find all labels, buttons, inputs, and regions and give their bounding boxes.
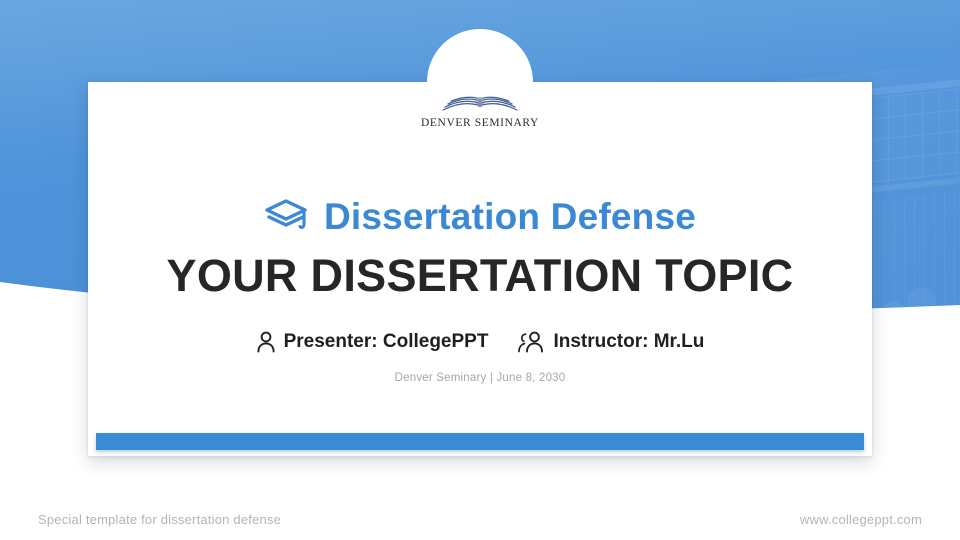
people-row: Presenter: CollegePPT Instructor: Mr.Lu xyxy=(88,331,872,353)
instructor-label: Instructor: Mr.Lu xyxy=(553,331,704,353)
seminary-logo: DENVER SEMINARY xyxy=(88,94,872,129)
graduation-cap-icon xyxy=(264,197,310,235)
page-title: YOUR DISSERTATION TOPIC xyxy=(88,252,872,299)
people-icon xyxy=(518,331,545,353)
footer-left-text: Special template for dissertation defens… xyxy=(38,512,281,527)
title-card: DENVER SEMINARY Dissertation Defense YOU… xyxy=(88,82,872,456)
presentation-slide: DENVER SEMINARY Dissertation Defense YOU… xyxy=(0,0,960,540)
slide-footer: Special template for dissertation defens… xyxy=(0,508,960,530)
instructor-item: Instructor: Mr.Lu xyxy=(518,331,704,353)
card-bottom-accent-bar xyxy=(96,433,864,450)
footer-right-url: www.collegeppt.com xyxy=(800,512,922,527)
card-content: Dissertation Defense YOUR DISSERTATION T… xyxy=(88,190,872,384)
kicker-text: Dissertation Defense xyxy=(324,198,696,235)
presenter-label: Presenter: CollegePPT xyxy=(284,331,489,353)
seminary-logo-name: DENVER SEMINARY xyxy=(421,117,539,129)
person-icon xyxy=(256,331,276,353)
kicker-row: Dissertation Defense xyxy=(88,190,872,242)
open-book-icon xyxy=(437,94,523,116)
venue-and-date: Denver Seminary | June 8, 2030 xyxy=(88,372,872,384)
presenter-item: Presenter: CollegePPT xyxy=(256,331,489,353)
